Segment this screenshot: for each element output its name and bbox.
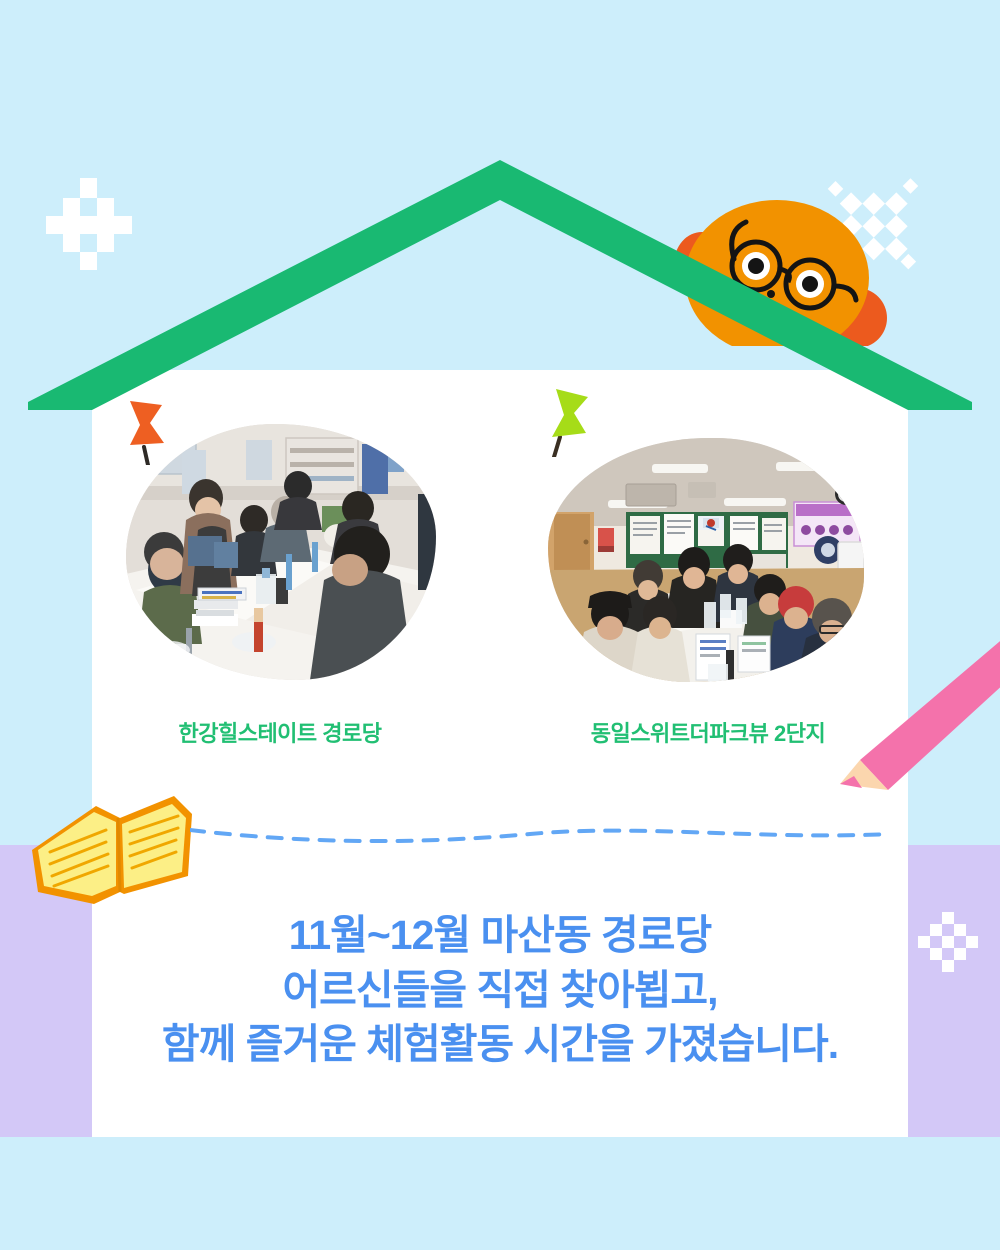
photo-card-2[interactable] xyxy=(548,438,864,682)
dashed-wave-divider xyxy=(190,818,890,858)
pencil-icon xyxy=(826,636,1000,806)
headline-line-3: 함께 즐거운 체험활동 시간을 가졌습니다. xyxy=(92,1017,908,1072)
headline-text: 11월~12월 마산동 경로당 어르신들을 직접 찾아뵙고, 함께 즐거운 체험… xyxy=(92,908,908,1072)
headline-line-1: 11월~12월 마산동 경로당 xyxy=(92,908,908,963)
open-book-icon xyxy=(24,792,196,916)
green-pushpin-icon xyxy=(538,385,594,457)
house-roof xyxy=(28,160,972,410)
headline-line-2: 어르신들을 직접 찾아뵙고, xyxy=(92,963,908,1018)
background-band-bottom-blue xyxy=(0,1137,1000,1250)
photo-caption-1: 한강힐스테이트 경로당 xyxy=(120,716,440,748)
photo-image-2 xyxy=(548,438,864,682)
poster-canvas: 한강힐스테이트 경로당 동일스위트더파크뷰 2단지 xyxy=(0,0,1000,1250)
orange-pushpin-icon xyxy=(118,395,174,465)
pixel-sparkle-icon xyxy=(916,908,980,972)
